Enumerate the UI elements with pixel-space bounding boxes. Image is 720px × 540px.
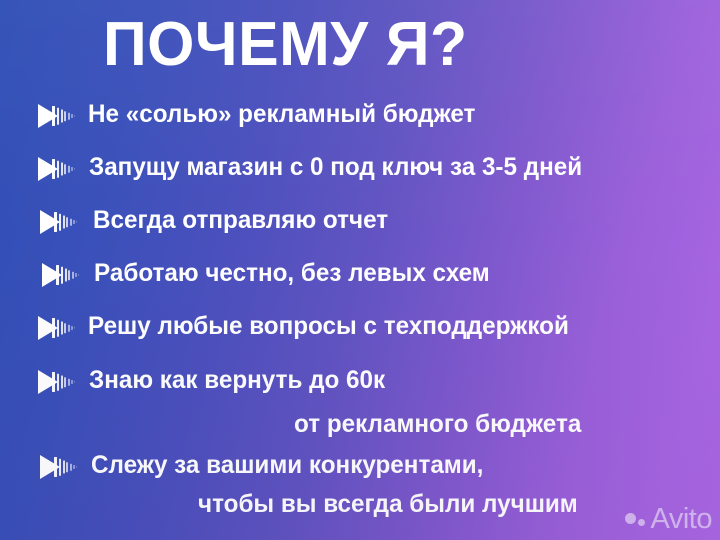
promo-poster: ПОЧЕМУ Я? Не «солью» рекламный бюджет За… [0, 0, 720, 540]
list-item-label: Запущу магазин с 0 под ключ за 3-5 дней [89, 152, 582, 182]
play-streak-icon [40, 207, 80, 237]
list-item-label: Слежу за вашими конкурентами, [91, 450, 483, 480]
list-item: Знаю как вернуть до 60к [38, 365, 394, 397]
list-item: Всегда отправляю отчет [40, 205, 397, 237]
play-streak-icon [38, 313, 78, 343]
list-item-label: Решу любые вопросы с техподдержкой [88, 311, 569, 341]
play-streak-icon [42, 260, 82, 290]
list-item-label: Работаю честно, без левых схем [94, 258, 490, 288]
list-item-continuation: чтобы вы всегда были лучшим [198, 489, 578, 519]
list-item: Решу любые вопросы с техподдержкой [38, 311, 584, 343]
play-streak-icon [38, 101, 78, 131]
play-streak-icon [38, 154, 78, 184]
list-item: Не «солью» рекламный бюджет [38, 99, 487, 131]
list-item: Слежу за вашими конкурентами, [40, 450, 496, 482]
play-streak-icon [38, 367, 78, 397]
play-streak-icon [40, 452, 80, 482]
list-item: Работаю честно, без левых схем [42, 258, 502, 290]
benefits-list: Не «солью» рекламный бюджет Запущу магаз… [0, 0, 720, 540]
list-item-label: Всегда отправляю отчет [93, 205, 388, 235]
list-item-label: Не «солью» рекламный бюджет [88, 99, 475, 129]
list-item: Запущу магазин с 0 под ключ за 3-5 дней [38, 152, 597, 184]
list-item-label: Знаю как вернуть до 60к [89, 365, 385, 395]
list-item-continuation: от рекламного бюджета [294, 409, 581, 439]
